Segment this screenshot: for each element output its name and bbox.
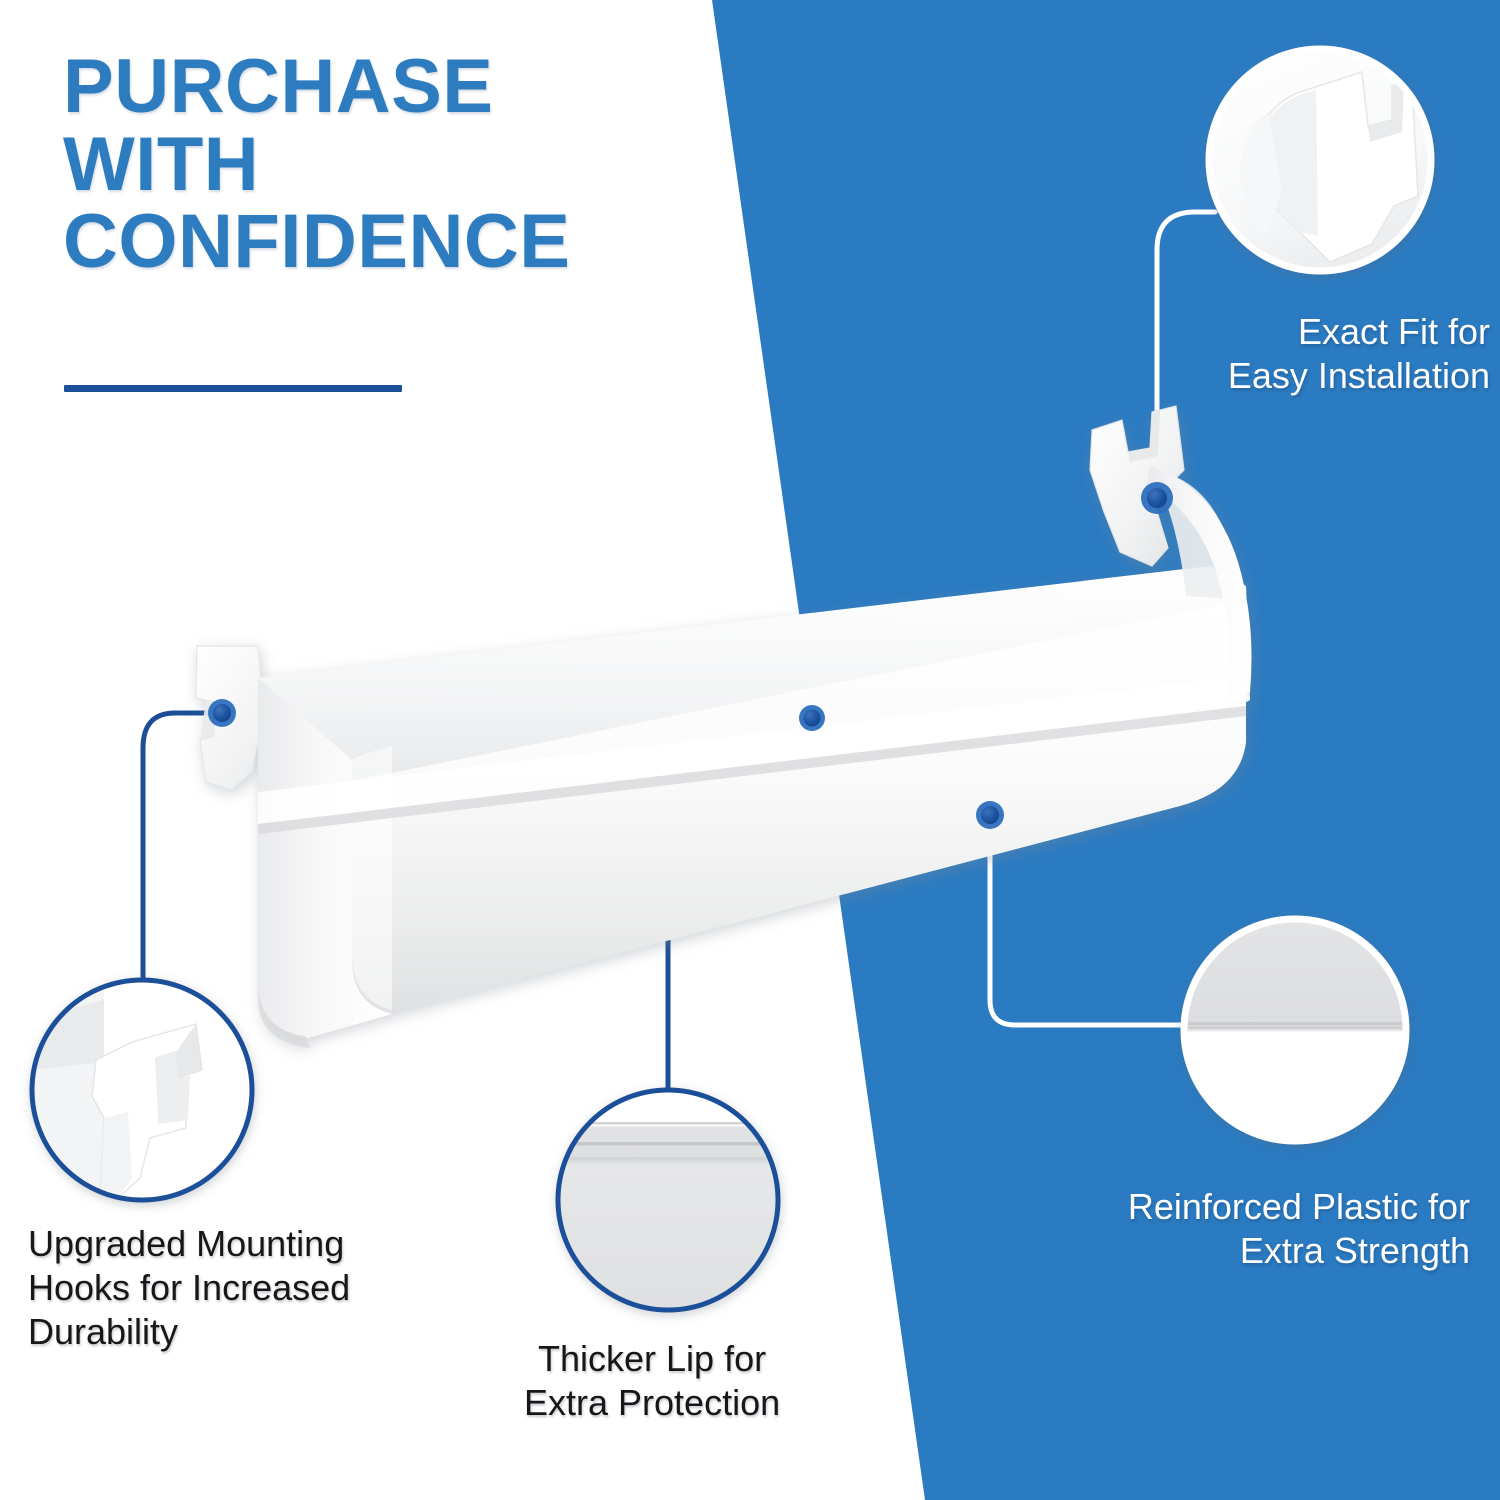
callout-circle-exact-fit: [1209, 49, 1431, 271]
callout-label-upgraded-hooks-line-1: Upgraded Mounting: [28, 1222, 350, 1266]
callout-label-thicker-lip: Thicker Lip for Extra Protection: [524, 1337, 780, 1425]
anchor-dot-reinforced-plastic: [976, 801, 1004, 829]
anchor-dot-exact-fit: [1141, 482, 1173, 514]
page-title-line-1: PURCHASE: [63, 48, 703, 126]
page-title-line-3: CONFIDENCE: [63, 203, 703, 281]
callout-label-upgraded-hooks-line-3: Durability: [28, 1310, 350, 1354]
title-underline-rule: [64, 385, 402, 392]
callout-circle-upgraded-hooks: [32, 980, 252, 1200]
page-title: PURCHASE WITH CONFIDENCE: [63, 48, 703, 281]
callout-label-reinforced-plastic: Reinforced Plastic for Extra Strength: [1128, 1185, 1470, 1273]
callout-label-upgraded-hooks-line-2: Hooks for Increased: [28, 1266, 350, 1310]
callout-label-thicker-lip-line-1: Thicker Lip for: [524, 1337, 780, 1381]
callout-label-thicker-lip-line-2: Extra Protection: [524, 1381, 780, 1425]
anchor-dot-thicker-lip: [799, 705, 825, 731]
page-title-line-2: WITH: [63, 126, 703, 204]
infographic-canvas: PURCHASE WITH CONFIDENCE Exact Fit for E…: [0, 0, 1500, 1500]
callout-label-reinforced-plastic-line-1: Reinforced Plastic for: [1128, 1185, 1470, 1229]
callout-label-exact-fit: Exact Fit for Easy Installation: [1228, 310, 1490, 398]
callout-label-exact-fit-line-1: Exact Fit for: [1228, 310, 1490, 354]
callout-circle-thicker-lip: [558, 1090, 778, 1310]
anchor-dot-upgraded-hooks: [208, 699, 236, 727]
callout-circle-reinforced-plastic: [1184, 919, 1406, 1141]
callout-label-reinforced-plastic-line-2: Extra Strength: [1128, 1229, 1470, 1273]
callout-label-upgraded-hooks: Upgraded Mounting Hooks for Increased Du…: [28, 1222, 350, 1354]
callout-label-exact-fit-line-2: Easy Installation: [1228, 354, 1490, 398]
